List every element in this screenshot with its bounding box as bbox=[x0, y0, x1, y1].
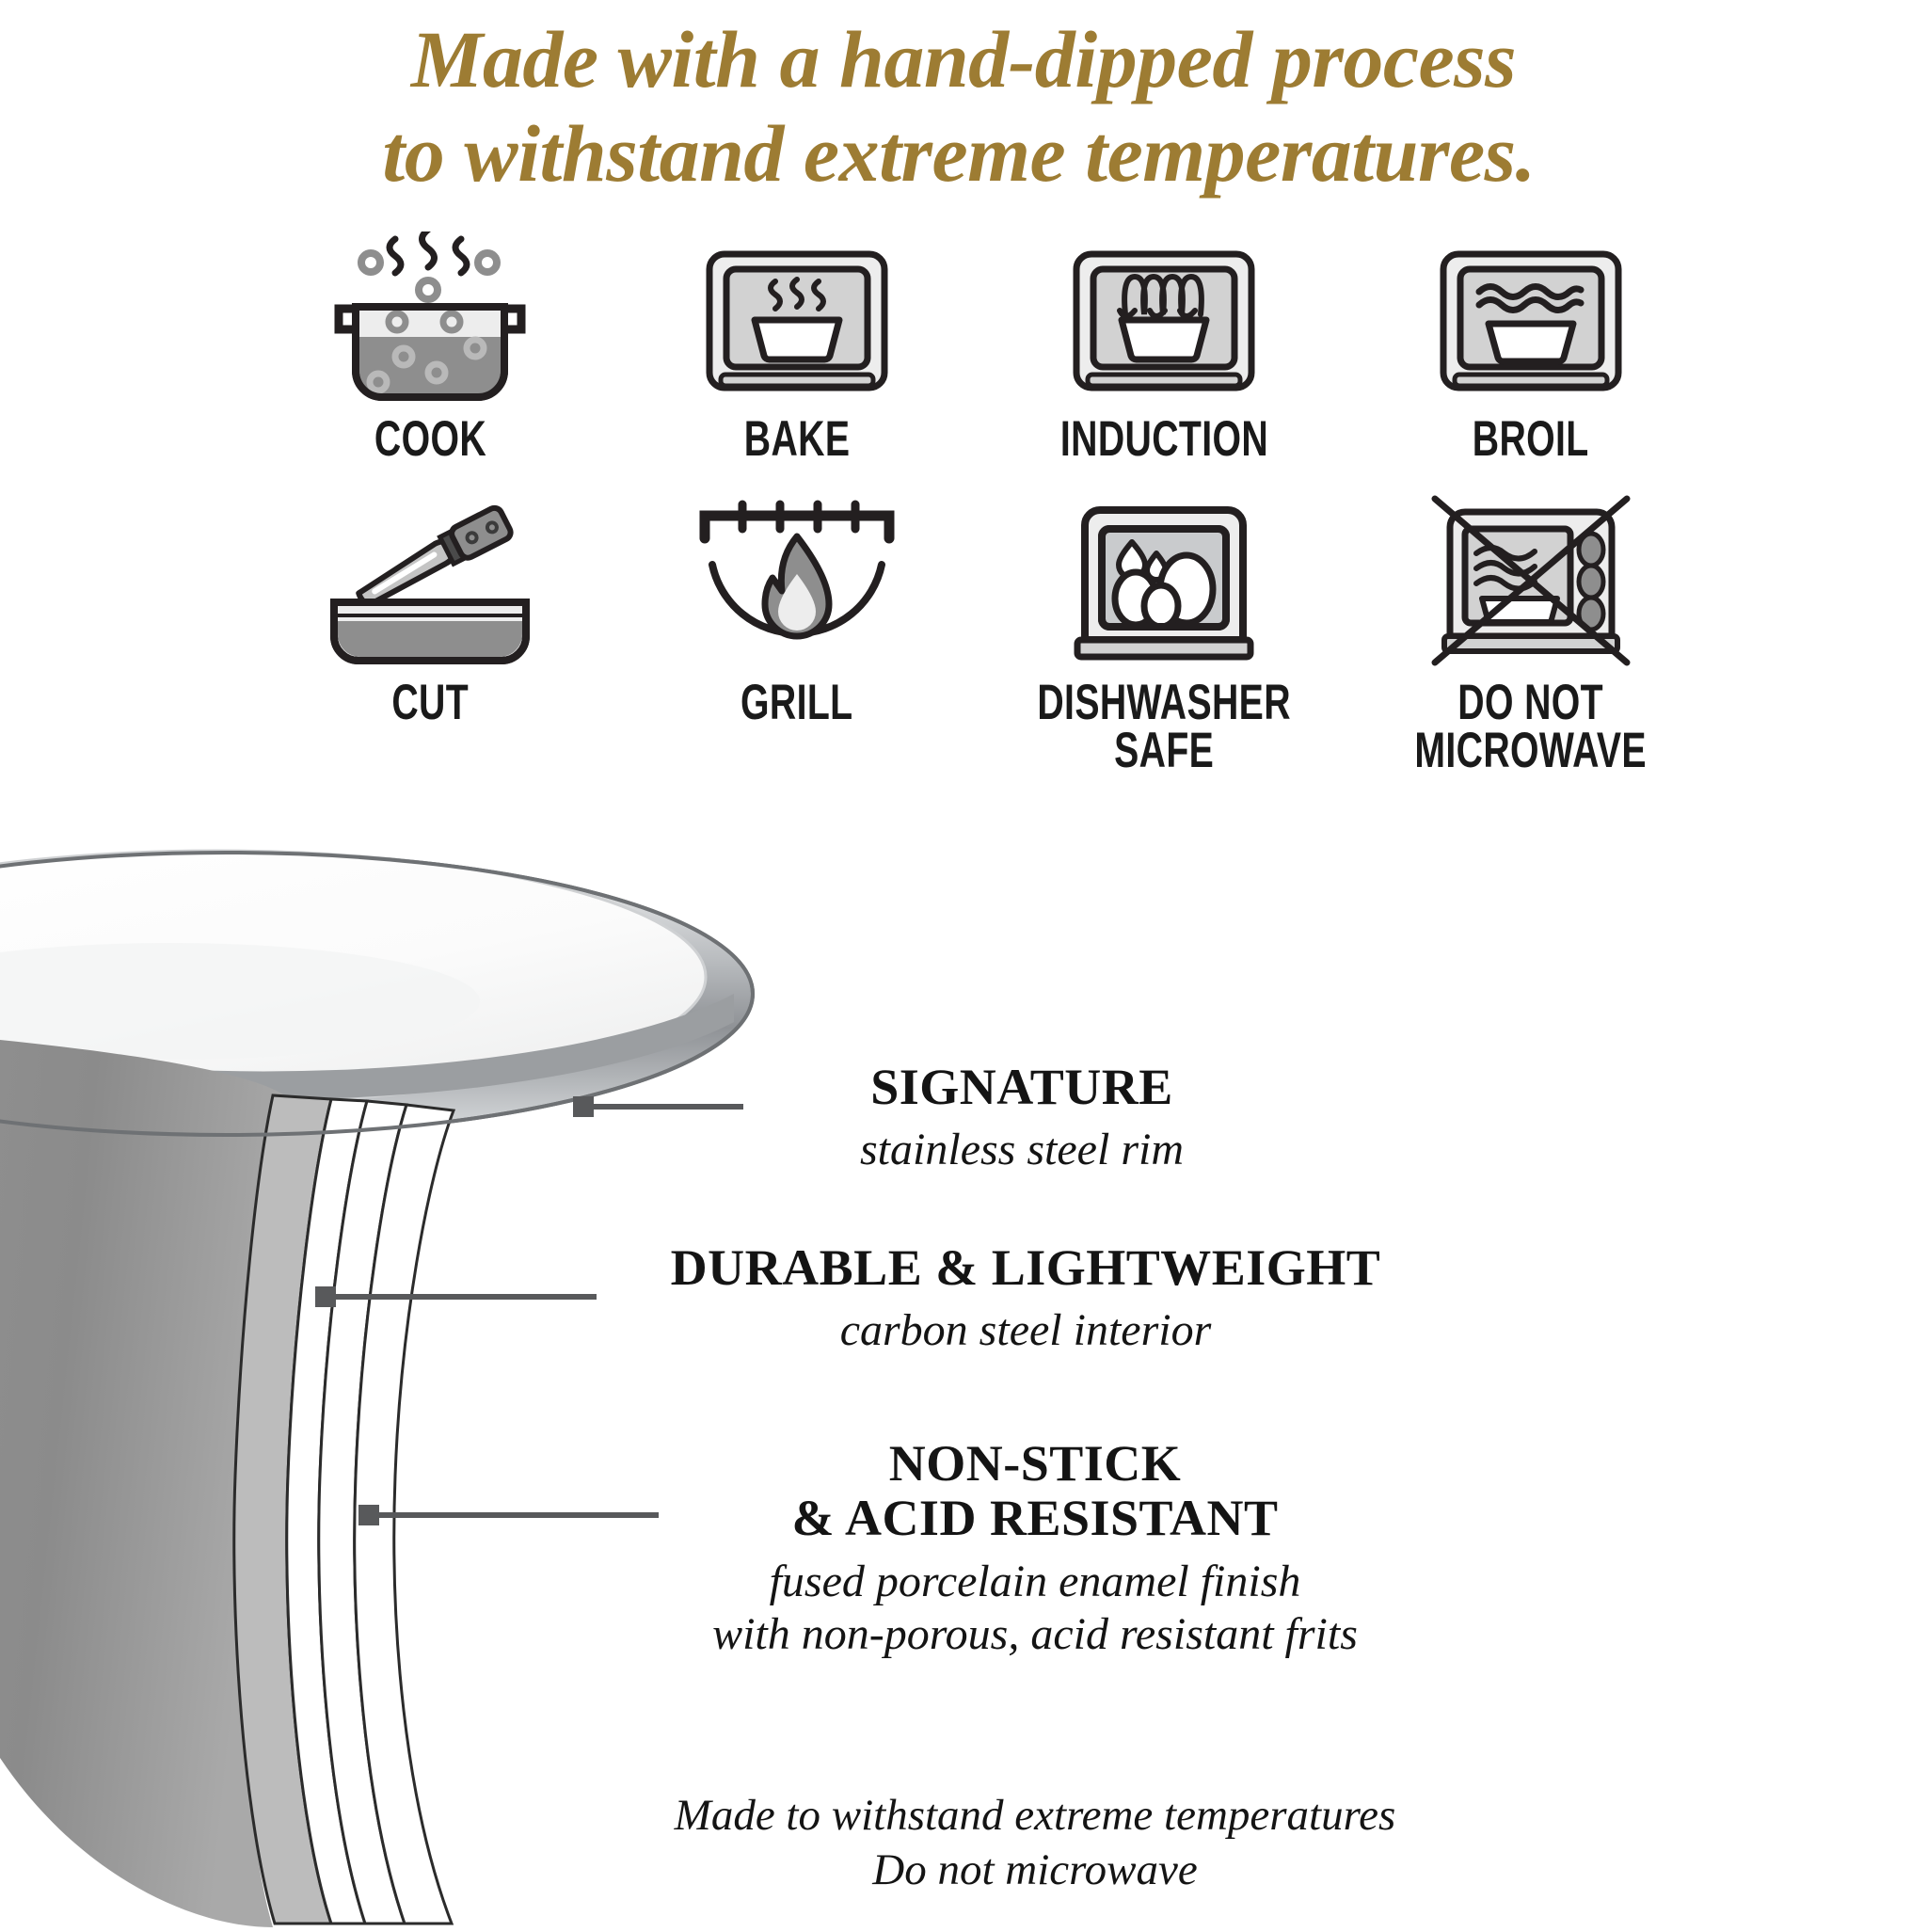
callout-non-stick-acid-resistant-title: NON-STICK & ACID RESISTANT bbox=[612, 1436, 1458, 1546]
icon-row-2: CUT GRILL bbox=[247, 484, 1714, 774]
oven-bake-icon bbox=[689, 232, 905, 408]
callout-signature: SIGNATURE stainless steel rim bbox=[758, 1060, 1285, 1177]
callout-signature-subtitle: stainless steel rim bbox=[758, 1124, 1285, 1177]
feature-dishwasher-safe-label: DISHWASHER SAFE bbox=[1037, 679, 1291, 774]
feature-induction-label: INDUCTION bbox=[1059, 416, 1267, 463]
microwave-crossed-out-icon bbox=[1418, 484, 1644, 672]
feature-icon-grid: COOK BAKE bbox=[247, 232, 1714, 774]
feature-induction: INDUCTION bbox=[980, 232, 1347, 463]
feature-cut: CUT bbox=[247, 484, 613, 774]
feature-grill-label: GRILL bbox=[741, 679, 852, 726]
oven-induction-coil-icon bbox=[1056, 232, 1272, 408]
dishwasher-icon bbox=[1051, 484, 1277, 672]
callout-non-stick-acid-resistant-subtitle: fused porcelain enamel finish with non-p… bbox=[612, 1556, 1458, 1662]
knife-over-pan-icon bbox=[317, 484, 543, 672]
callout-durable-lightweight-subtitle: carbon steel interior bbox=[602, 1304, 1449, 1358]
feature-bake: BAKE bbox=[613, 232, 980, 463]
callout-durable-lightweight: DURABLE & LIGHTWEIGHT carbon steel inter… bbox=[602, 1240, 1449, 1358]
grill-flame-icon bbox=[684, 484, 910, 672]
footer-note: Made to withstand extreme temperatures D… bbox=[527, 1788, 1543, 1898]
feature-cook-label: COOK bbox=[374, 416, 486, 463]
feature-bake-label: BAKE bbox=[744, 416, 851, 463]
feature-cut-label: CUT bbox=[391, 679, 469, 726]
feature-cook: COOK bbox=[247, 232, 613, 463]
oven-broil-icon bbox=[1423, 232, 1639, 408]
feature-broil-label: BROIL bbox=[1473, 416, 1589, 463]
page-title-line-2: to withstand extreme temperatures. bbox=[0, 107, 1927, 201]
callout-durable-lightweight-title: DURABLE & LIGHTWEIGHT bbox=[602, 1240, 1449, 1295]
pan-cutaway-illustration bbox=[0, 817, 828, 1927]
feature-do-not-microwave-label: DO NOT MICROWAVE bbox=[1415, 679, 1648, 774]
icon-row-1: COOK BAKE bbox=[247, 232, 1714, 463]
page-title: Made with a hand-dipped process to withs… bbox=[0, 13, 1927, 201]
pot-boiling-icon bbox=[322, 232, 538, 408]
feature-dishwasher-safe: DISHWASHER SAFE bbox=[980, 484, 1347, 774]
page-title-line-1: Made with a hand-dipped process bbox=[0, 13, 1927, 107]
feature-grill: GRILL bbox=[613, 484, 980, 774]
feature-do-not-microwave: DO NOT MICROWAVE bbox=[1347, 484, 1714, 774]
callout-non-stick-acid-resistant: NON-STICK & ACID RESISTANT fused porcela… bbox=[612, 1436, 1458, 1662]
callout-signature-title: SIGNATURE bbox=[758, 1060, 1285, 1114]
feature-broil: BROIL bbox=[1347, 232, 1714, 463]
